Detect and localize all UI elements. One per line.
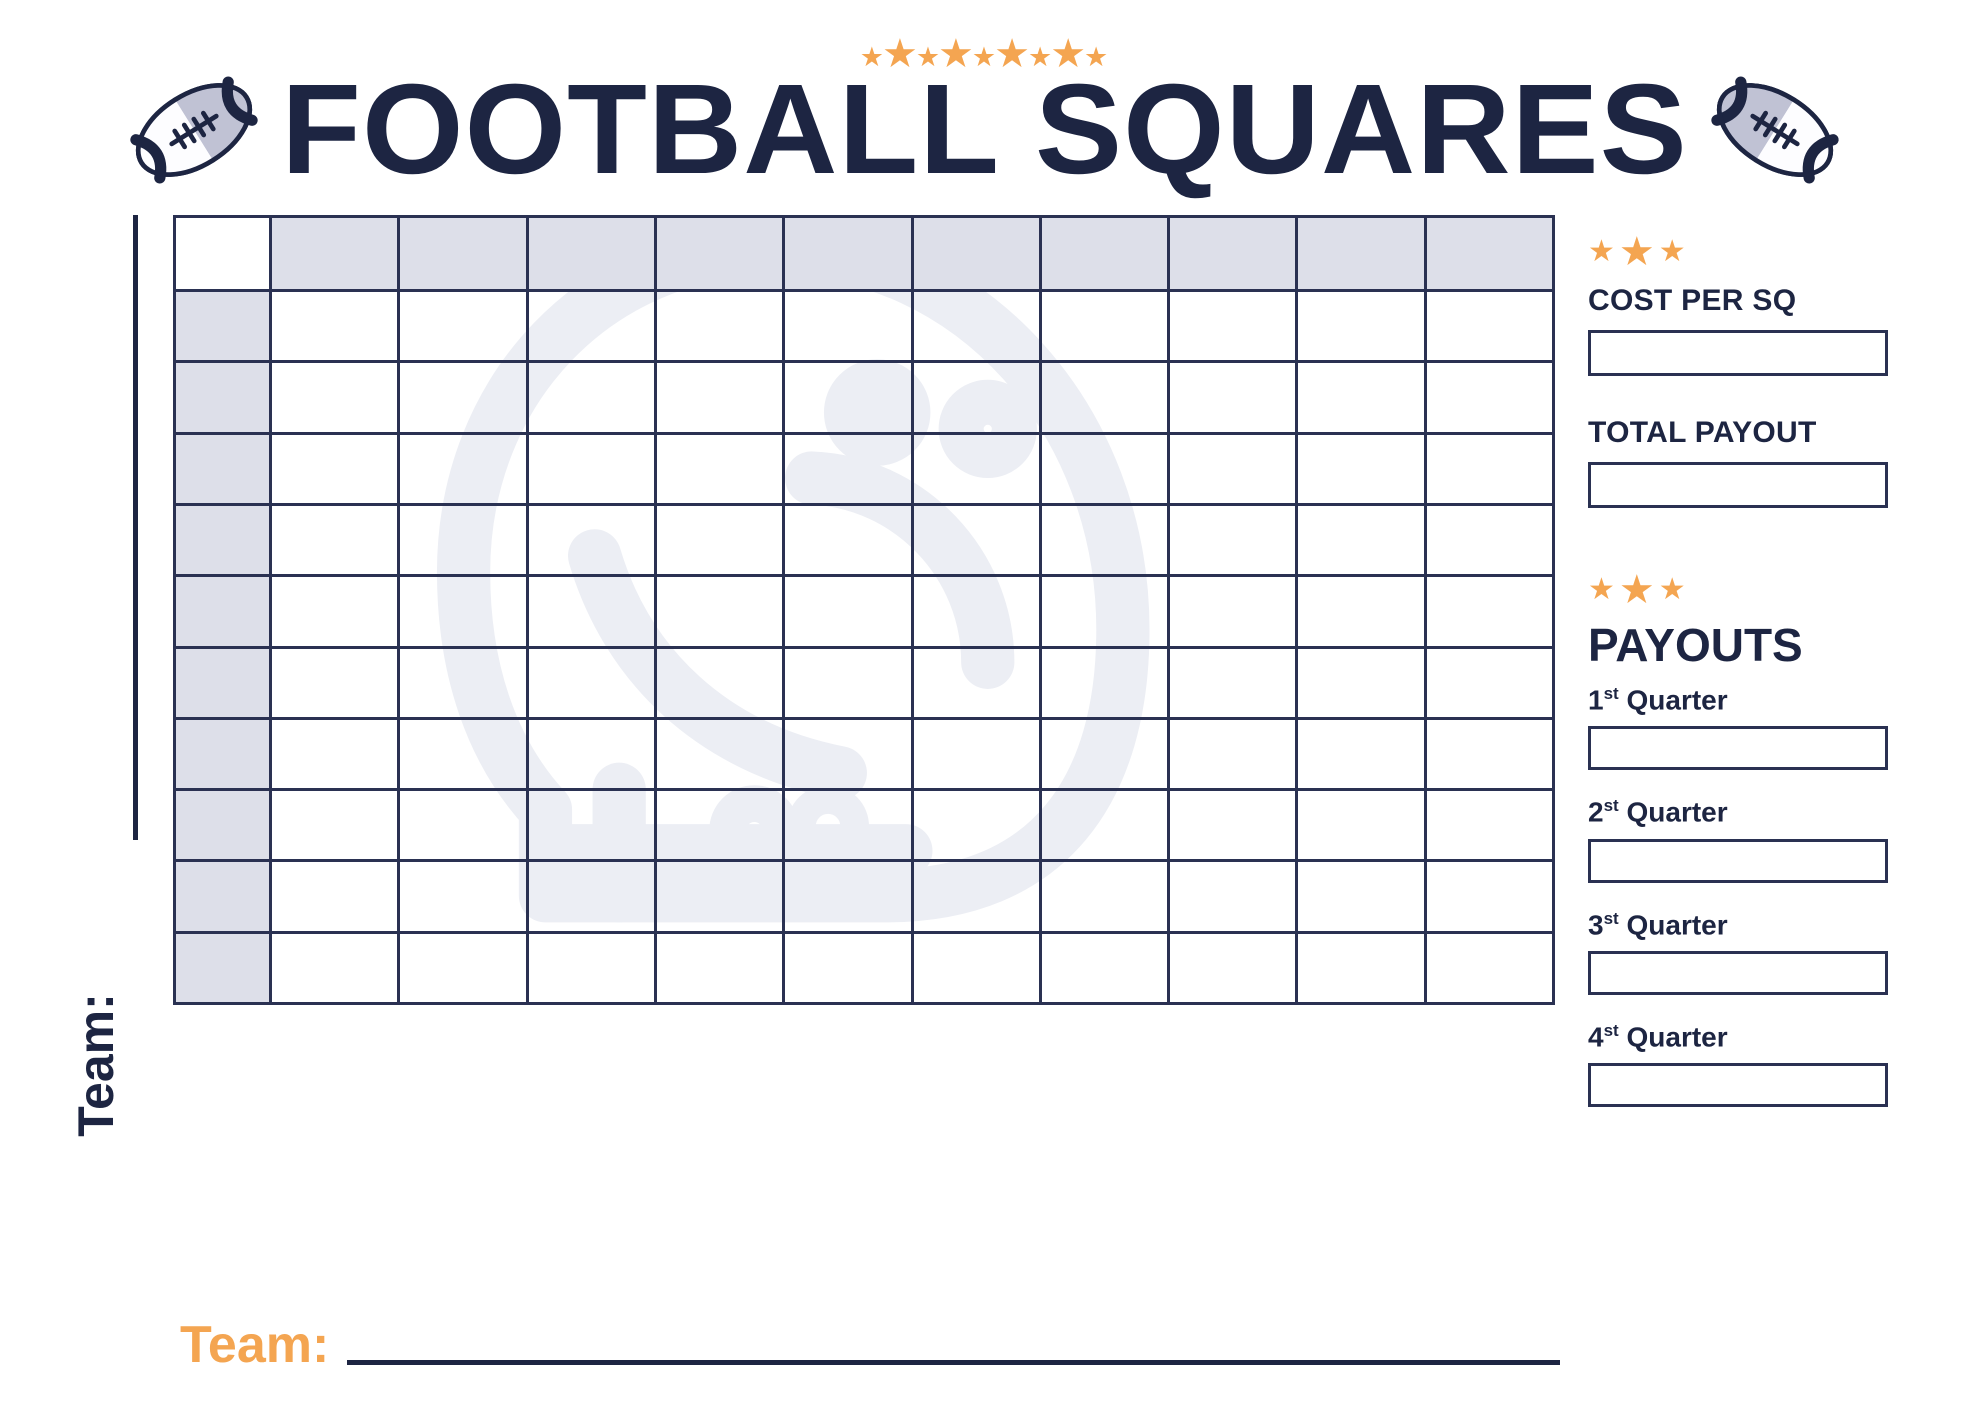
grid-square[interactable] <box>1042 720 1170 791</box>
squares-grid-wrapper <box>173 215 1555 1005</box>
grid-square[interactable] <box>785 934 913 1005</box>
cost-per-sq-input[interactable] <box>1588 330 1888 376</box>
grid-square[interactable] <box>785 791 913 862</box>
quarter-4-word: Quarter <box>1626 1021 1727 1052</box>
grid-square[interactable] <box>914 363 1042 434</box>
grid-square[interactable] <box>529 720 657 791</box>
grid-square[interactable] <box>785 720 913 791</box>
grid-square[interactable] <box>1042 435 1170 506</box>
page-title: FOOTBALL SQUARES <box>281 66 1688 194</box>
grid-square[interactable] <box>400 934 528 1005</box>
star-icon: ★ <box>1619 570 1655 610</box>
grid-square[interactable] <box>1427 435 1555 506</box>
quarter-4-input[interactable] <box>1588 1063 1888 1107</box>
payouts-stars: ★★★ <box>1588 570 1888 610</box>
grid-row-header-cell[interactable] <box>176 363 272 434</box>
quarter-4-ordinal: st <box>1604 1021 1619 1040</box>
grid-square[interactable] <box>1298 577 1426 648</box>
grid-square[interactable] <box>272 435 400 506</box>
squares-grid[interactable] <box>173 215 1555 1005</box>
grid-row-header-cell[interactable] <box>176 791 272 862</box>
football-icon <box>1700 70 1850 190</box>
grid-square[interactable] <box>785 862 913 933</box>
grid-header-cell[interactable] <box>272 218 400 292</box>
grid-square[interactable] <box>914 292 1042 363</box>
cost-per-sq-label: COST PER SQ <box>1588 284 1888 318</box>
grid-square[interactable] <box>529 363 657 434</box>
team-bottom-rule[interactable] <box>347 1360 1560 1365</box>
grid-square[interactable] <box>1170 862 1298 933</box>
team-left-label: Team: <box>66 945 126 1185</box>
quarter-2-word: Quarter <box>1626 797 1727 828</box>
grid-square[interactable] <box>400 649 528 720</box>
grid-square[interactable] <box>785 506 913 577</box>
grid-square[interactable] <box>1042 862 1170 933</box>
grid-square[interactable] <box>1170 435 1298 506</box>
grid-square[interactable] <box>1298 934 1426 1005</box>
grid-square[interactable] <box>1427 934 1555 1005</box>
grid-header-cell[interactable] <box>1427 218 1555 292</box>
star-icon: ★ <box>1588 237 1615 267</box>
grid-square[interactable] <box>272 363 400 434</box>
grid-square[interactable] <box>400 506 528 577</box>
grid-row-header-cell[interactable] <box>176 435 272 506</box>
grid-square[interactable] <box>529 577 657 648</box>
grid-square[interactable] <box>1298 720 1426 791</box>
grid-square[interactable] <box>785 577 913 648</box>
grid-square[interactable] <box>529 862 657 933</box>
grid-square[interactable] <box>785 435 913 506</box>
grid-square[interactable] <box>1427 720 1555 791</box>
grid-square[interactable] <box>400 435 528 506</box>
grid-square[interactable] <box>785 363 913 434</box>
quarter-4-number: 4 <box>1588 1021 1604 1052</box>
grid-square[interactable] <box>657 720 785 791</box>
grid-square[interactable] <box>400 791 528 862</box>
grid-square[interactable] <box>914 862 1042 933</box>
grid-square[interactable] <box>529 649 657 720</box>
total-payout-label: TOTAL PAYOUT <box>1588 416 1888 450</box>
grid-square[interactable] <box>785 649 913 720</box>
grid-square[interactable] <box>1298 435 1426 506</box>
grid-square[interactable] <box>657 506 785 577</box>
quarter-2-ordinal: st <box>1604 796 1619 815</box>
grid-square[interactable] <box>400 363 528 434</box>
grid-square[interactable] <box>1042 791 1170 862</box>
grid-square[interactable] <box>400 720 528 791</box>
grid-header-cell[interactable] <box>1042 218 1170 292</box>
quarter-1-input[interactable] <box>1588 726 1888 770</box>
grid-square[interactable] <box>1427 791 1555 862</box>
grid-square[interactable] <box>400 292 528 363</box>
quarter-2-label: 2st Quarter <box>1588 796 1888 828</box>
grid-square[interactable] <box>657 292 785 363</box>
grid-square[interactable] <box>1170 791 1298 862</box>
grid-square[interactable] <box>529 791 657 862</box>
grid-square[interactable] <box>1427 292 1555 363</box>
payouts-title: PAYOUTS <box>1588 622 1888 668</box>
grid-square[interactable] <box>1170 292 1298 363</box>
grid-square[interactable] <box>914 435 1042 506</box>
quarter-3-label: 3st Quarter <box>1588 909 1888 941</box>
grid-square[interactable] <box>1170 506 1298 577</box>
grid-row-header-cell[interactable] <box>176 292 272 363</box>
grid-square[interactable] <box>1170 720 1298 791</box>
star-icon: ★ <box>1588 575 1615 605</box>
grid-square[interactable] <box>657 791 785 862</box>
grid-square[interactable] <box>1427 577 1555 648</box>
page-header: ★★★★★★★★★ FOOTBALL SQUARES <box>0 0 1968 240</box>
quarter-4-label: 4st Quarter <box>1588 1021 1888 1053</box>
grid-header-cell[interactable] <box>400 218 528 292</box>
star-icon: ★ <box>1619 232 1655 272</box>
quarter-3-word: Quarter <box>1626 909 1727 940</box>
grid-square[interactable] <box>1042 649 1170 720</box>
grid-square[interactable] <box>1298 791 1426 862</box>
grid-square[interactable] <box>1042 577 1170 648</box>
grid-square[interactable] <box>1298 363 1426 434</box>
team-left-rule <box>133 215 138 840</box>
grid-square[interactable] <box>272 934 400 1005</box>
grid-square[interactable] <box>529 292 657 363</box>
grid-square[interactable] <box>1298 292 1426 363</box>
grid-square[interactable] <box>657 649 785 720</box>
grid-square[interactable] <box>1427 363 1555 434</box>
grid-row-header-cell[interactable] <box>176 720 272 791</box>
star-icon: ★ <box>1659 575 1686 605</box>
grid-square[interactable] <box>914 649 1042 720</box>
grid-header-cell[interactable] <box>1298 218 1426 292</box>
quarter-1-label: 1st Quarter <box>1588 684 1888 716</box>
grid-square[interactable] <box>1427 862 1555 933</box>
total-payout-input[interactable] <box>1588 462 1888 508</box>
quarter-1-word: Quarter <box>1626 684 1727 715</box>
grid-square[interactable] <box>657 862 785 933</box>
grid-square[interactable] <box>272 720 400 791</box>
grid-header-cell[interactable] <box>914 218 1042 292</box>
grid-square[interactable] <box>1170 363 1298 434</box>
grid-square[interactable] <box>1042 363 1170 434</box>
grid-square[interactable] <box>1042 292 1170 363</box>
quarter-3-number: 3 <box>1588 909 1604 940</box>
football-icon <box>119 70 269 190</box>
quarter-2-input[interactable] <box>1588 839 1888 883</box>
star-icon: ★ <box>1659 237 1686 267</box>
grid-square[interactable] <box>914 791 1042 862</box>
quarter-3-input[interactable] <box>1588 951 1888 995</box>
grid-square[interactable] <box>272 649 400 720</box>
grid-square[interactable] <box>657 577 785 648</box>
grid-square[interactable] <box>1170 649 1298 720</box>
grid-square[interactable] <box>1298 649 1426 720</box>
grid-square[interactable] <box>400 577 528 648</box>
grid-square[interactable] <box>914 934 1042 1005</box>
grid-square[interactable] <box>657 363 785 434</box>
grid-square[interactable] <box>914 506 1042 577</box>
sidebar: ★★★ COST PER SQ TOTAL PAYOUT ★★★ PAYOUTS… <box>1588 232 1888 1133</box>
grid-square[interactable] <box>272 506 400 577</box>
cost-stars: ★★★ <box>1588 232 1888 272</box>
grid-row-header-cell[interactable] <box>176 649 272 720</box>
grid-square[interactable] <box>1427 506 1555 577</box>
payouts-block: ★★★ PAYOUTS 1st Quarter 2st Quarter 3st … <box>1588 570 1888 1107</box>
grid-square[interactable] <box>1298 506 1426 577</box>
grid-square[interactable] <box>914 720 1042 791</box>
grid-header-cell[interactable] <box>785 218 913 292</box>
grid-square[interactable] <box>914 577 1042 648</box>
grid-header-cell[interactable] <box>657 218 785 292</box>
grid-square[interactable] <box>529 506 657 577</box>
team-bottom-label: Team: <box>180 1319 329 1375</box>
grid-square[interactable] <box>1170 934 1298 1005</box>
grid-square[interactable] <box>1042 506 1170 577</box>
grid-square[interactable] <box>529 934 657 1005</box>
grid-square[interactable] <box>529 435 657 506</box>
grid-square[interactable] <box>785 292 913 363</box>
grid-header-cell[interactable] <box>1170 218 1298 292</box>
grid-square[interactable] <box>272 862 400 933</box>
grid-row-header-cell[interactable] <box>176 506 272 577</box>
grid-square[interactable] <box>400 862 528 933</box>
grid-square[interactable] <box>1042 934 1170 1005</box>
grid-square[interactable] <box>272 577 400 648</box>
grid-square[interactable] <box>1298 862 1426 933</box>
grid-square[interactable] <box>272 791 400 862</box>
title-row: FOOTBALL SQUARES <box>0 60 1968 200</box>
quarter-1-number: 1 <box>1588 684 1604 715</box>
grid-square[interactable] <box>657 435 785 506</box>
grid-row-header-cell[interactable] <box>176 934 272 1005</box>
grid-corner-cell <box>176 218 272 292</box>
quarter-2-number: 2 <box>1588 797 1604 828</box>
quarter-1-ordinal: st <box>1604 684 1619 703</box>
grid-header-cell[interactable] <box>529 218 657 292</box>
grid-square[interactable] <box>272 292 400 363</box>
quarter-3-ordinal: st <box>1604 909 1619 928</box>
grid-row-header-cell[interactable] <box>176 862 272 933</box>
grid-square[interactable] <box>1427 649 1555 720</box>
team-bottom-field[interactable]: Team: <box>180 1285 1560 1375</box>
grid-row-header-cell[interactable] <box>176 577 272 648</box>
grid-square[interactable] <box>657 934 785 1005</box>
grid-square[interactable] <box>1170 577 1298 648</box>
